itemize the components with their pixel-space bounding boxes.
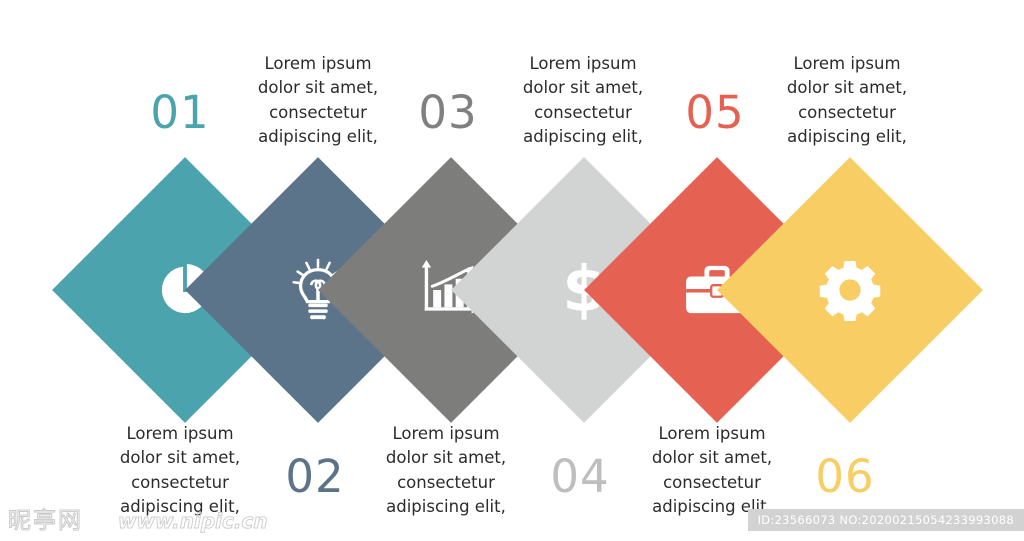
description-text-04: Lorem ipsum dolor sit amet, consectetur … <box>371 422 521 520</box>
gear-icon <box>756 196 944 384</box>
step-text-06: Lorem ipsum dolor sit amet, consectetur … <box>637 422 787 520</box>
diamond-step-06[interactable] <box>717 157 983 423</box>
watermark-id-label: ID:23566073 NO:20200215054233993088 <box>748 509 1024 531</box>
step-number-02: 02 <box>245 454 385 499</box>
step-text-05: Lorem ipsum dolor sit amet, consectetur … <box>772 52 922 150</box>
number-text-04: 04 <box>510 454 650 499</box>
step-text-01: Lorem ipsum dolor sit amet, consectetur … <box>243 52 393 150</box>
number-text-05: 05 <box>645 90 785 135</box>
step-number-01: 01 <box>110 90 250 135</box>
step-number-04: 04 <box>510 454 650 499</box>
top-label-band: 01 Lorem ipsum dolor sit amet, consectet… <box>0 42 1024 182</box>
step-number-06: 06 <box>775 454 915 499</box>
diamond-chain: $ <box>0 188 1024 393</box>
number-text-01: 01 <box>110 90 250 135</box>
watermark-logo: 昵亭网 <box>8 501 83 535</box>
infographic-canvas: 01 Lorem ipsum dolor sit amet, consectet… <box>0 0 1024 541</box>
number-text-06: 06 <box>775 454 915 499</box>
watermark-site-url: www.nipic.cn <box>118 509 268 533</box>
step-number-03: 03 <box>378 90 518 135</box>
step-text-02: Lorem ipsum dolor sit amet, consectetur … <box>105 422 255 520</box>
step-number-05: 05 <box>645 90 785 135</box>
bottom-label-band: Lorem ipsum dolor sit amet, consectetur … <box>0 412 1024 522</box>
description-text-02: Lorem ipsum dolor sit amet, consectetur … <box>105 422 255 520</box>
step-text-04: Lorem ipsum dolor sit amet, consectetur … <box>371 422 521 520</box>
description-text-05: Lorem ipsum dolor sit amet, consectetur … <box>772 52 922 150</box>
description-text-03: Lorem ipsum dolor sit amet, consectetur … <box>508 52 658 150</box>
step-text-03: Lorem ipsum dolor sit amet, consectetur … <box>508 52 658 150</box>
description-text-01: Lorem ipsum dolor sit amet, consectetur … <box>243 52 393 150</box>
number-text-03: 03 <box>378 90 518 135</box>
number-text-02: 02 <box>245 454 385 499</box>
description-text-06: Lorem ipsum dolor sit amet, consectetur … <box>637 422 787 520</box>
